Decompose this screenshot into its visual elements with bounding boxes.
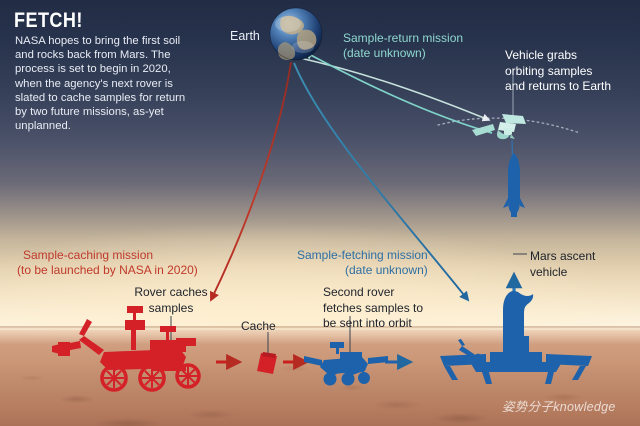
- label-vehicle-grabs-samples: Vehicle grabs orbiting samples and retur…: [505, 48, 611, 95]
- sample-return-outbound-path: [300, 58, 489, 120]
- earth-globe: [270, 8, 322, 60]
- label-rover-caches-samples: Rover caches samples: [116, 285, 226, 316]
- label-sample-caching-line1: Sample-caching mission: [23, 248, 153, 262]
- sample-fetching-rover: [304, 342, 388, 386]
- label-sample-return-mission: Sample-return mission (date unknown): [343, 31, 463, 61]
- label-second-rover-fetches: Second rover fetches samples to be sent …: [323, 285, 423, 332]
- infographic-scene: FETCH! NASA hopes to bring the first soi…: [0, 0, 640, 426]
- sample-caching-trajectory: [211, 62, 291, 300]
- sample-caching-rover: [52, 306, 199, 390]
- mars-ascent-vehicle-rocket: [503, 153, 525, 217]
- label-mars-ascent-vehicle: Mars ascent vehicle: [530, 249, 595, 280]
- label-cache: Cache: [241, 319, 276, 333]
- label-sample-fetching-line2: (date unknown): [297, 263, 428, 279]
- sample-cache-container: [257, 352, 277, 374]
- label-sample-fetching-line1: Sample-fetching mission: [297, 248, 428, 262]
- sample-return-inbound-path: [305, 52, 492, 133]
- watermark: 姿势分子knowledge: [502, 396, 616, 415]
- ascent-vehicle-lander-platform: [440, 291, 592, 384]
- label-earth: Earth: [230, 29, 260, 43]
- page-title: FETCH!: [14, 9, 83, 33]
- label-sample-caching-line2: (to be launched by NASA in 2020): [17, 263, 198, 279]
- intro-paragraph: NASA hopes to bring the first soil and r…: [15, 34, 190, 133]
